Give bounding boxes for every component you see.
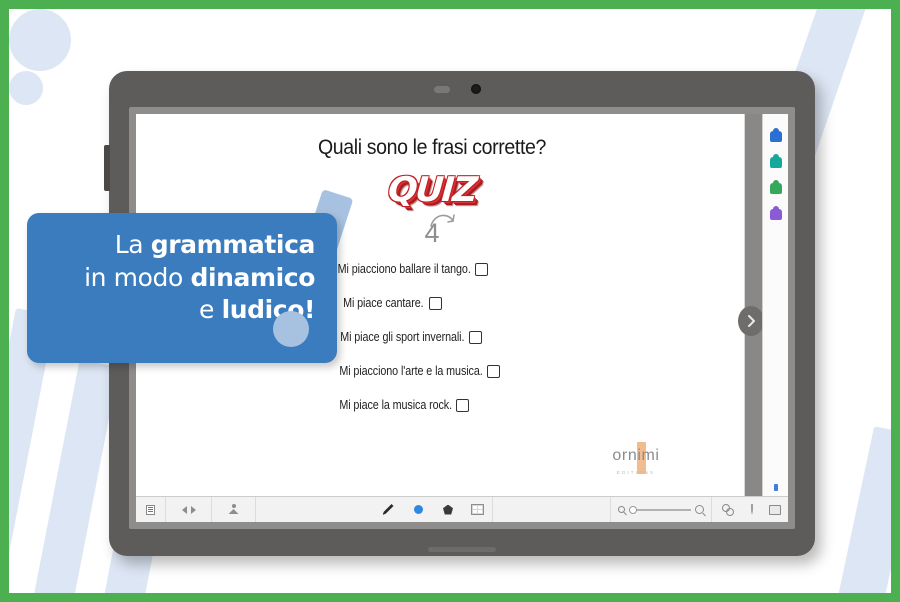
tablet-top-bezel xyxy=(109,71,815,107)
layout-button[interactable] xyxy=(463,497,493,523)
callout-dot-decor xyxy=(273,311,309,347)
book-icon xyxy=(770,183,782,194)
ornimi-wordmark: ornimi xyxy=(588,447,684,465)
decor-letter-bar-2 xyxy=(31,360,119,593)
promo-callout: La grammatica in modo dinamico e ludico! xyxy=(27,213,337,363)
pages-icon xyxy=(146,505,155,515)
poster-canvas: Quali sono le frasi corrette? QUIZ 4 xyxy=(0,0,900,602)
shape-tool-button[interactable] xyxy=(433,497,463,523)
zoom-slider[interactable] xyxy=(629,509,691,511)
answer-checkbox[interactable] xyxy=(475,263,488,276)
monitor-icon xyxy=(769,505,781,515)
prev-next-icon xyxy=(182,506,196,514)
quiz-logo-text: QUIZ xyxy=(387,170,477,210)
zoom-in-icon[interactable] xyxy=(695,505,704,514)
toolbar-center-group xyxy=(373,497,493,523)
bottom-toolbar xyxy=(136,496,788,522)
fit-page-button[interactable] xyxy=(712,497,742,523)
page-title: Quali sono le frasi corrette? xyxy=(157,136,708,160)
callout-line-2: in modo dinamico xyxy=(43,262,315,295)
pin-button[interactable] xyxy=(742,497,762,523)
decor-letter-bar-4 xyxy=(837,426,891,593)
answer-checkbox[interactable] xyxy=(469,331,482,344)
sidebar-expand-chevron-icon[interactable] xyxy=(738,306,764,336)
prev-next-button[interactable] xyxy=(166,497,212,523)
answer-text: Mi piace la musica rock. xyxy=(339,398,452,412)
pen-icon xyxy=(383,504,394,515)
fit-icon xyxy=(722,504,733,515)
blue-dot-icon xyxy=(414,505,423,514)
sidebar-item-users[interactable] xyxy=(763,201,788,227)
person-icon xyxy=(228,504,239,515)
answer-text: Mi piace cantare. xyxy=(343,296,423,310)
answer-checkbox[interactable] xyxy=(487,365,500,378)
zoom-slider-knob[interactable] xyxy=(629,506,637,514)
ornimi-subtitle: EDITIONS xyxy=(588,470,684,475)
answer-checkbox[interactable] xyxy=(456,399,469,412)
zoom-control-group xyxy=(610,497,712,523)
power-button[interactable] xyxy=(104,145,110,191)
pages-panel-button[interactable] xyxy=(136,497,166,523)
answer-text: Mi piacciono l'arte e la musica. xyxy=(339,364,482,378)
presenter-button[interactable] xyxy=(212,497,256,523)
fullscreen-button[interactable] xyxy=(762,497,788,523)
answer-checkbox[interactable] xyxy=(429,297,442,310)
toolbar-right-group xyxy=(712,497,788,523)
home-indicator xyxy=(428,547,496,552)
answer-text: Mi piace gli sport invernali. xyxy=(340,330,464,344)
decor-letter-dot xyxy=(9,71,43,105)
zoom-out-icon[interactable] xyxy=(618,506,625,513)
pin-icon xyxy=(750,504,754,515)
shape-icon xyxy=(443,505,453,515)
sidebar-divider-strip xyxy=(744,114,762,496)
home-icon xyxy=(770,131,782,142)
toolbar-left-group xyxy=(136,497,256,523)
speaker-slot xyxy=(434,86,450,93)
sidebar-status-indicator xyxy=(774,484,778,491)
users-icon xyxy=(770,209,782,220)
sidebar-item-book[interactable] xyxy=(763,175,788,201)
pen-tool-button[interactable] xyxy=(373,497,403,523)
quiz-number: 4 xyxy=(424,218,439,248)
sidebar-item-bag[interactable] xyxy=(763,149,788,175)
sidebar-item-home[interactable] xyxy=(763,123,788,149)
list-item: Mi piace la musica rock. xyxy=(136,398,728,412)
color-picker-button[interactable] xyxy=(403,497,433,523)
callout-text: La grammatica in modo dinamico e ludico! xyxy=(43,229,315,327)
list-item: Mi piacciono l'arte e la musica. xyxy=(136,364,728,378)
tool-sidebar xyxy=(762,114,788,496)
callout-line-1: La grammatica xyxy=(43,229,315,262)
answer-text: Mi piacciono ballare il tango. xyxy=(337,262,470,276)
front-camera xyxy=(471,84,481,94)
grid-icon xyxy=(471,504,484,515)
ornimi-logo: ornimi EDITIONS xyxy=(588,442,684,476)
decor-exclamation-dot xyxy=(9,9,71,71)
bag-icon xyxy=(770,157,782,168)
